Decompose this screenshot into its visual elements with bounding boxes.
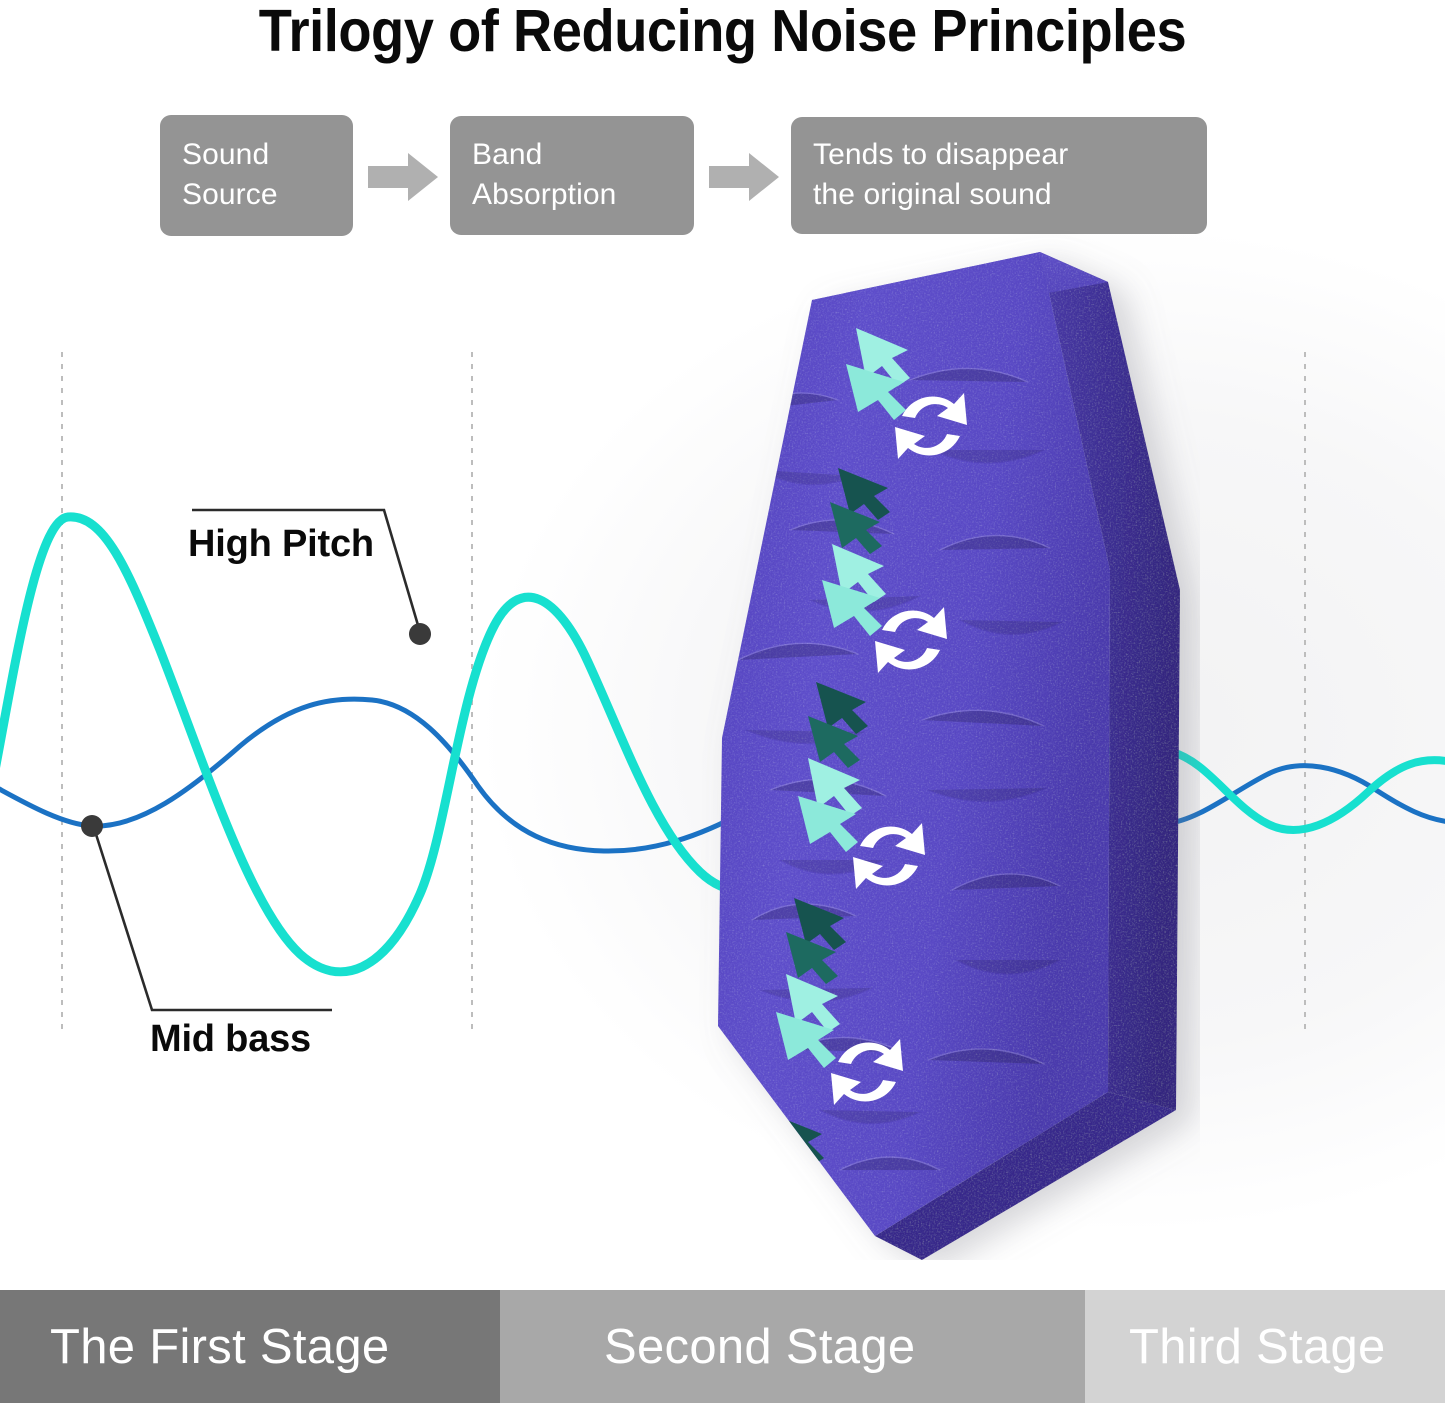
stage-label-first[interactable]: The First Stage bbox=[0, 1290, 500, 1403]
arrow-right-icon-1 bbox=[368, 153, 440, 199]
arrow-head bbox=[408, 153, 438, 201]
arrow-shaft bbox=[368, 166, 410, 188]
stage-label-second[interactable]: Second Stage bbox=[500, 1290, 1085, 1403]
stage-bar: The First Stage Second Stage Third Stage bbox=[0, 1290, 1445, 1403]
flow-step-sound-source[interactable]: Sound Source bbox=[160, 115, 353, 236]
mid-bass-marker-dot bbox=[81, 815, 103, 837]
page-title: Trilogy of Reducing Noise Principles bbox=[58, 2, 1387, 61]
mid-bass-leader bbox=[81, 815, 332, 1010]
callout-label-mid-bass: Mid bass bbox=[150, 1018, 311, 1061]
callout-label-high-pitch: High Pitch bbox=[188, 523, 374, 566]
panel-front-face bbox=[718, 252, 1110, 1236]
flow-step-tends-to-disappear[interactable]: Tends to disappear the original sound bbox=[791, 117, 1207, 234]
arrow-head bbox=[749, 153, 779, 201]
high-pitch-marker-dot bbox=[409, 623, 431, 645]
arrow-shaft bbox=[709, 166, 751, 188]
process-flow: Sound Source Band Absorption Tends to di… bbox=[160, 113, 1280, 238]
arrow-right-icon-2 bbox=[709, 153, 781, 199]
stage-label-third[interactable]: Third Stage bbox=[1085, 1290, 1445, 1403]
acoustic-foam-panel bbox=[660, 230, 1200, 1260]
flow-step-band-absorption[interactable]: Band Absorption bbox=[450, 116, 694, 235]
infographic-root: Trilogy of Reducing Noise Principles Sou… bbox=[0, 0, 1445, 1403]
